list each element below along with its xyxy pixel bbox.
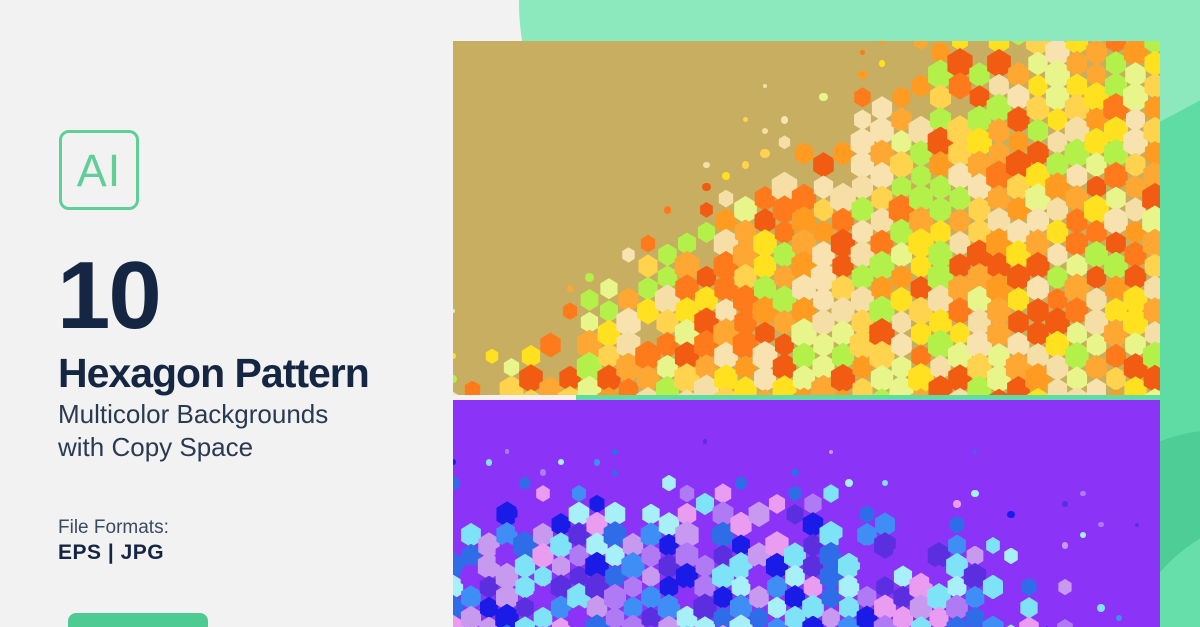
page-subtitle: Multicolor Backgrounds with Copy Space — [58, 398, 328, 465]
info-panel: AI 10 Hexagon Pattern Multicolor Backgro… — [0, 0, 453, 627]
page-title: Hexagon Pattern — [58, 352, 369, 395]
file-formats-value: EPS | JPG — [58, 541, 164, 565]
ai-format-badge: AI — [59, 130, 139, 210]
cta-button[interactable] — [68, 613, 208, 627]
cool-hexagon-pattern — [453, 400, 1160, 627]
warm-hexagon-pattern — [453, 41, 1160, 395]
file-formats-label: File Formats: — [58, 517, 169, 539]
item-count: 10 — [57, 248, 160, 344]
cool-hexagon-preview-card[interactable] — [453, 400, 1160, 627]
promo-banner: AI 10 Hexagon Pattern Multicolor Backgro… — [0, 0, 1200, 627]
warm-hexagon-preview-card[interactable] — [453, 41, 1160, 395]
